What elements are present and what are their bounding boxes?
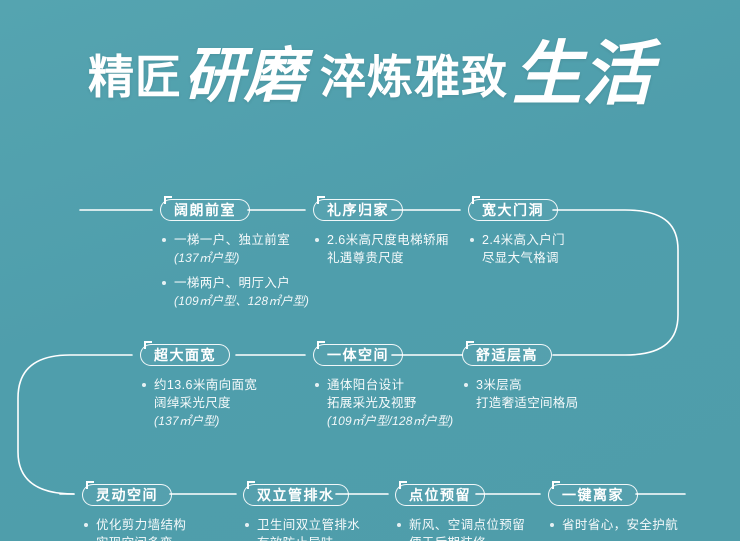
bullet-main: 新风、空调点位预留 xyxy=(409,518,525,532)
bullet-main: 3米层高 xyxy=(476,378,522,392)
feature-ceremonial-return[interactable]: 礼序归家 2.6米高尺度电梯轿厢 礼遇尊贵尺度 xyxy=(313,199,449,274)
bullet-sub: 打造奢适空间格局 xyxy=(476,394,578,412)
bullet-main: 2.4米高入户门 xyxy=(482,233,565,247)
feature-label: 一键离家 xyxy=(562,488,624,502)
feature-label: 礼序归家 xyxy=(327,203,389,217)
feature-label: 一体空间 xyxy=(327,348,389,362)
list-item: 3米层高 打造奢适空间格局 xyxy=(462,376,578,412)
feature-label: 超大面宽 xyxy=(154,348,216,362)
bullet-main: 通体阳台设计 xyxy=(327,378,404,392)
list-item: 通体阳台设计 拓展采光及视野 (109㎡户型/128㎡户型) xyxy=(313,376,453,430)
feature-one-key-away[interactable]: 一键离家 省时省心，安全护航 xyxy=(548,484,678,541)
bullet-note: (137㎡户型) xyxy=(154,412,257,430)
list-item: 2.6米高尺度电梯轿厢 礼遇尊贵尺度 xyxy=(313,231,449,267)
bullet-note: (137㎡户型) xyxy=(174,249,309,267)
bullet-note: (109㎡户型/128㎡户型) xyxy=(327,412,453,430)
feature-label-pill[interactable]: 舒适层高 xyxy=(462,344,552,366)
bullet-main: 2.6米高尺度电梯轿厢 xyxy=(327,233,449,247)
bullet-sub: 便于后期装修 xyxy=(409,534,525,541)
feature-bullet-list: 一梯一户、独立前室 (137㎡户型) 一梯两户、明厅入户 (109㎡户型、128… xyxy=(160,231,309,310)
bullet-main: 省时省心，安全护航 xyxy=(562,518,678,532)
bullet-sub: 实现空间多变 xyxy=(96,534,186,541)
feature-dual-riser-drainage[interactable]: 双立管排水 卫生间双立管排水 有效防止异味 xyxy=(243,484,360,541)
title-segment-3: 淬炼雅致 xyxy=(320,54,508,100)
feature-reserved-outlets[interactable]: 点位预留 新风、空调点位预留 便于后期装修 xyxy=(395,484,525,541)
bullet-sub: 礼遇尊贵尺度 xyxy=(327,249,449,267)
bullet-main: 约13.6米南向面宽 xyxy=(154,378,257,392)
bullet-sub: 尽显大气格调 xyxy=(482,249,565,267)
list-item: 省时省心，安全护航 xyxy=(548,516,678,534)
feature-label-pill[interactable]: 一体空间 xyxy=(313,344,403,366)
feature-extra-wide-frontage[interactable]: 超大面宽 约13.6米南向面宽 阔绰采光尺度 (137㎡户型) xyxy=(140,344,257,437)
feature-bullet-list: 2.4米高入户门 尽显大气格调 xyxy=(468,231,565,267)
feature-label-pill[interactable]: 超大面宽 xyxy=(140,344,230,366)
feature-comfortable-ceiling[interactable]: 舒适层高 3米层高 打造奢适空间格局 xyxy=(462,344,578,419)
list-item: 优化剪力墙结构 实现空间多变 xyxy=(82,516,186,541)
title-segment-1: 精匠 xyxy=(88,54,182,100)
feature-bullet-list: 卫生间双立管排水 有效防止异味 xyxy=(243,516,360,541)
list-item: 2.4米高入户门 尽显大气格调 xyxy=(468,231,565,267)
feature-bullet-list: 3米层高 打造奢适空间格局 xyxy=(462,376,578,412)
bullet-note: (109㎡户型、128㎡户型) xyxy=(174,292,309,310)
list-item: 新风、空调点位预留 便于后期装修 xyxy=(395,516,525,541)
feature-label: 舒适层高 xyxy=(476,348,538,362)
list-item: 一梯两户、明厅入户 (109㎡户型、128㎡户型) xyxy=(160,274,309,310)
feature-label-pill[interactable]: 一键离家 xyxy=(548,484,638,506)
bullet-sub: 阔绰采光尺度 xyxy=(154,394,257,412)
feature-bullet-list: 约13.6米南向面宽 阔绰采光尺度 (137㎡户型) xyxy=(140,376,257,430)
line-left-u-turn xyxy=(18,355,132,494)
bullet-main: 优化剪力墙结构 xyxy=(96,518,186,532)
bullet-main: 一梯一户、独立前室 xyxy=(174,233,290,247)
feature-bullet-list: 2.6米高尺度电梯轿厢 礼遇尊贵尺度 xyxy=(313,231,449,267)
feature-label-pill[interactable]: 阔朗前室 xyxy=(160,199,250,221)
feature-label: 双立管排水 xyxy=(257,488,335,502)
feature-bullet-list: 通体阳台设计 拓展采光及视野 (109㎡户型/128㎡户型) xyxy=(313,376,453,430)
feature-label-pill[interactable]: 双立管排水 xyxy=(243,484,349,506)
feature-integrated-space[interactable]: 一体空间 通体阳台设计 拓展采光及视野 (109㎡户型/128㎡户型) xyxy=(313,344,453,437)
feature-label: 灵动空间 xyxy=(96,488,158,502)
feature-label-pill[interactable]: 点位预留 xyxy=(395,484,485,506)
feature-bullet-list: 新风、空调点位预留 便于后期装修 xyxy=(395,516,525,541)
bullet-sub: 有效防止异味 xyxy=(257,534,360,541)
bullet-main: 卫生间双立管排水 xyxy=(257,518,360,532)
bullet-main: 一梯两户、明厅入户 xyxy=(174,276,290,290)
feature-label: 宽大门洞 xyxy=(482,203,544,217)
title-segment-2-brush: 研磨 xyxy=(184,46,304,106)
page-title: 精匠研磨淬炼雅致生活 xyxy=(0,34,740,154)
feature-label-pill[interactable]: 礼序归家 xyxy=(313,199,403,221)
title-segment-4-brush: 生活 xyxy=(512,39,652,109)
list-item: 约13.6米南向面宽 阔绰采光尺度 (137㎡户型) xyxy=(140,376,257,430)
poster-canvas: 精匠研磨淬炼雅致生活 阔朗前 xyxy=(0,0,740,541)
feature-label-pill[interactable]: 宽大门洞 xyxy=(468,199,558,221)
feature-label: 阔朗前室 xyxy=(174,203,236,217)
feature-bullet-list: 优化剪力墙结构 实现空间多变 xyxy=(82,516,186,541)
bullet-sub: 拓展采光及视野 xyxy=(327,394,453,412)
feature-wide-doorway[interactable]: 宽大门洞 2.4米高入户门 尽显大气格调 xyxy=(468,199,565,274)
feature-label: 点位预留 xyxy=(409,488,471,502)
title-line: 精匠研磨淬炼雅致生活 xyxy=(88,34,652,104)
feature-spacious-foyer[interactable]: 阔朗前室 一梯一户、独立前室 (137㎡户型) 一梯两户、明厅入户 (109㎡户… xyxy=(160,199,309,317)
list-item: 卫生间双立管排水 有效防止异味 xyxy=(243,516,360,541)
feature-label-pill[interactable]: 灵动空间 xyxy=(82,484,172,506)
list-item: 一梯一户、独立前室 (137㎡户型) xyxy=(160,231,309,267)
feature-flexible-space[interactable]: 灵动空间 优化剪力墙结构 实现空间多变 xyxy=(82,484,186,541)
line-right-u-turn xyxy=(553,210,678,355)
feature-bullet-list: 省时省心，安全护航 xyxy=(548,516,678,534)
